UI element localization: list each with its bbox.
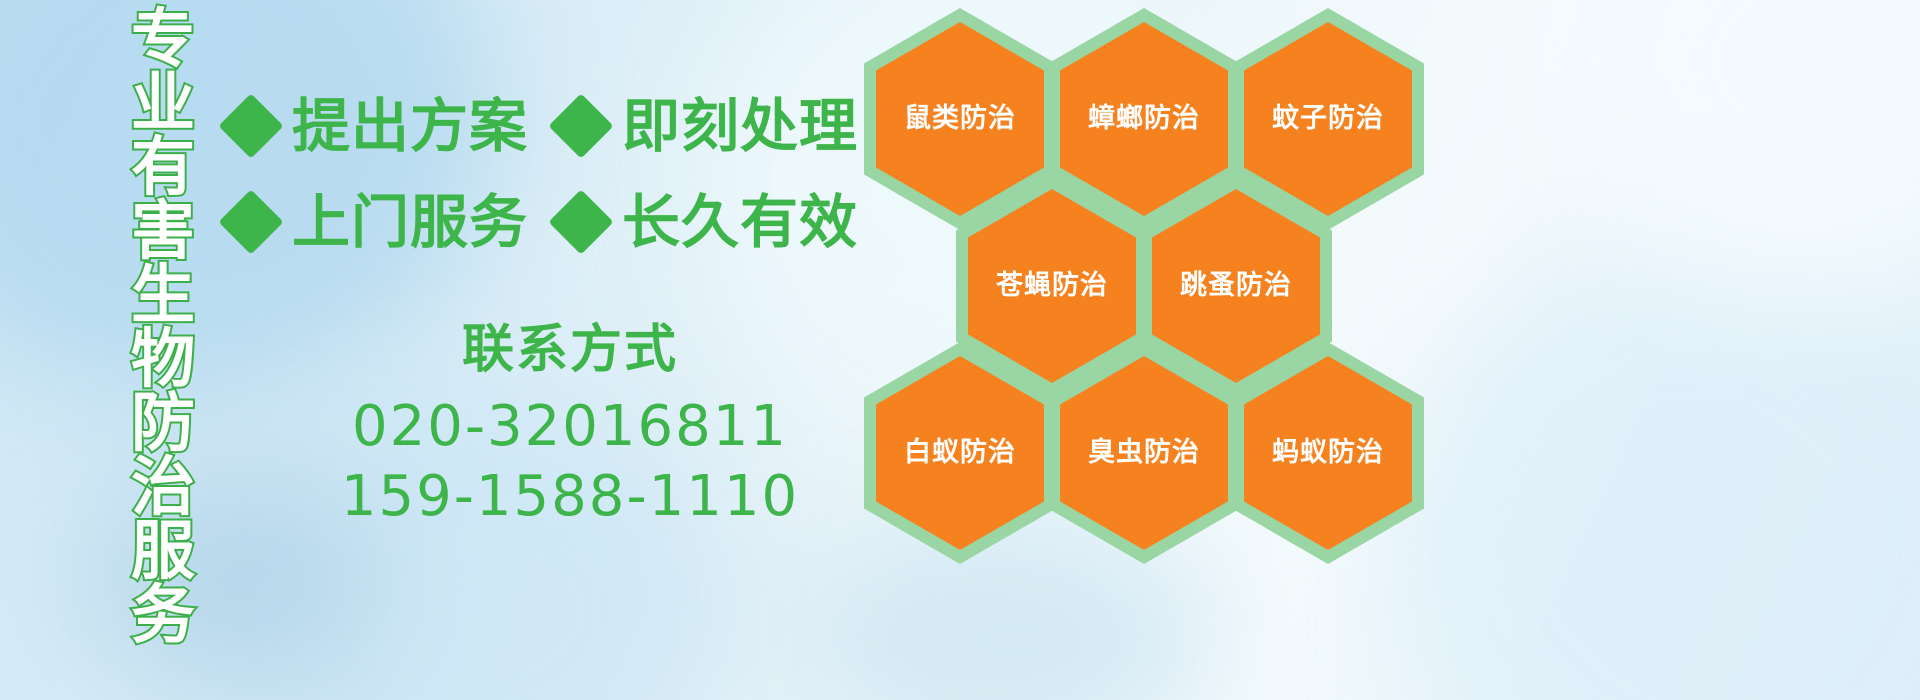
service-label: 蟑螂防治 <box>1088 104 1200 134</box>
vertical-slogan-char: 物 <box>131 328 195 392</box>
diamond-icon <box>218 189 283 254</box>
service-label: 苍蝇防治 <box>996 271 1108 301</box>
service-label: 鼠类防治 <box>904 104 1016 134</box>
diamond-icon <box>218 93 283 158</box>
vertical-slogan-char: 服 <box>131 520 195 584</box>
feature-item-long-lasting: 长久有效 <box>558 192 858 252</box>
banner-stage: 专 业 有 害 生 物 防 治 服 务 提出方案 即刻处理 上门服务 <box>0 0 1920 700</box>
vertical-slogan-char: 害 <box>131 200 195 264</box>
feature-label: 上门服务 <box>292 192 528 252</box>
contact-phone-mobile[interactable]: 159-1588-1110 <box>300 462 840 532</box>
service-honeycomb: 鼠类防治 蟑螂防治 蚊子防治 苍蝇防治 跳蚤防治 白蚁防治 <box>862 2 1462 562</box>
service-label: 蚂蚁防治 <box>1272 438 1384 468</box>
hex-inner: 鼠类防治 <box>876 22 1044 216</box>
vertical-slogan: 专 业 有 害 生 物 防 治 服 务 <box>108 8 218 588</box>
feature-list: 提出方案 即刻处理 上门服务 长久有效 <box>228 78 868 270</box>
service-label: 臭虫防治 <box>1088 438 1200 468</box>
vertical-slogan-char: 业 <box>131 72 195 136</box>
hex-inner: 蟑螂防治 <box>1060 22 1228 216</box>
hex-inner: 臭虫防治 <box>1060 356 1228 550</box>
hex-inner: 蚂蚁防治 <box>1244 356 1412 550</box>
feature-item-immediate-handling: 即刻处理 <box>558 96 858 156</box>
hex-inner: 跳蚤防治 <box>1152 189 1320 383</box>
vertical-slogan-char: 有 <box>131 136 195 200</box>
feature-label: 长久有效 <box>622 192 858 252</box>
feature-label: 即刻处理 <box>622 96 858 156</box>
contact-block: 联系方式 020-32016811 159-1588-1110 <box>300 318 840 532</box>
feature-item-onsite-service: 上门服务 <box>228 192 528 252</box>
hex-inner: 白蚁防治 <box>876 356 1044 550</box>
vertical-slogan-char: 治 <box>131 456 195 520</box>
feature-row: 提出方案 即刻处理 <box>228 78 868 174</box>
diamond-icon <box>548 93 613 158</box>
contact-title: 联系方式 <box>300 318 840 382</box>
feature-label: 提出方案 <box>292 96 528 156</box>
vertical-slogan-char: 生 <box>131 264 195 328</box>
service-label: 白蚁防治 <box>904 438 1016 468</box>
vertical-slogan-char: 防 <box>131 392 195 456</box>
diamond-icon <box>548 189 613 254</box>
feature-row: 上门服务 长久有效 <box>228 174 868 270</box>
service-label: 跳蚤防治 <box>1180 271 1292 301</box>
service-label: 蚊子防治 <box>1272 104 1384 134</box>
feature-item-propose-plan: 提出方案 <box>228 96 528 156</box>
hex-inner: 蚊子防治 <box>1244 22 1412 216</box>
contact-phone-landline[interactable]: 020-32016811 <box>300 392 840 462</box>
vertical-slogan-char: 务 <box>131 584 195 648</box>
vertical-slogan-char: 专 <box>131 8 195 72</box>
hex-inner: 苍蝇防治 <box>968 189 1136 383</box>
